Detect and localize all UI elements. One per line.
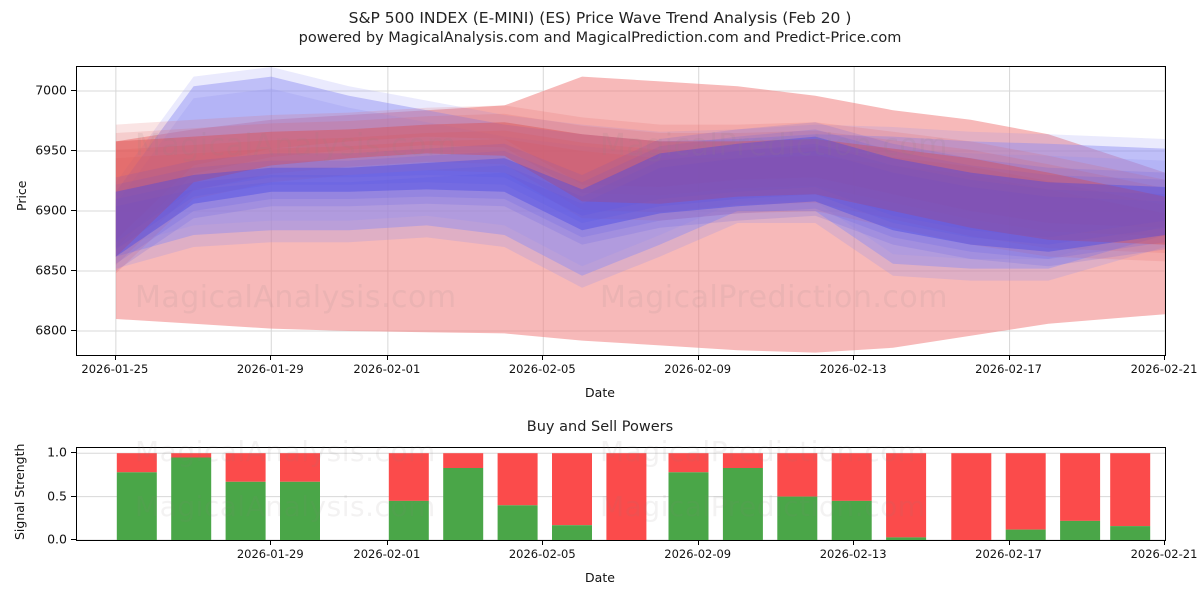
main-x-tick-mark xyxy=(387,356,388,360)
main-x-tick-mark xyxy=(270,356,271,360)
main-x-tick-mark xyxy=(542,356,543,360)
main-x-tick-label: 2026-02-13 xyxy=(820,362,887,376)
buy-power-bar xyxy=(1110,526,1150,540)
buy-power-bar xyxy=(117,472,157,540)
price-y-tick-mark xyxy=(71,150,76,151)
lower-x-tick-label: 2026-02-05 xyxy=(509,547,576,561)
main-x-tick-label: 2026-01-29 xyxy=(237,362,304,376)
main-x-tick-label: 2026-02-09 xyxy=(664,362,731,376)
price-y-tick-label: 6900 xyxy=(35,203,67,218)
lower-x-tick-label: 2026-02-21 xyxy=(1131,547,1198,561)
price-y-tick-label: 6800 xyxy=(35,323,67,338)
price-y-tick-mark xyxy=(71,330,76,331)
lower-x-tick-mark xyxy=(1164,541,1165,545)
buy-power-bar xyxy=(1006,530,1046,540)
lower-x-tick-mark xyxy=(270,541,271,545)
price-y-tick-mark xyxy=(71,270,76,271)
signal-y-tick-mark xyxy=(71,539,76,540)
sell-power-bar xyxy=(280,453,320,482)
lower-x-tick-label: 2026-02-17 xyxy=(975,547,1042,561)
lower-x-tick-mark xyxy=(387,541,388,545)
sell-power-bar xyxy=(1060,453,1100,521)
sell-power-bar xyxy=(723,453,763,468)
sell-power-bar xyxy=(171,453,211,457)
signal-y-tick-mark xyxy=(71,452,76,453)
signal-strength-axis-label: Signal Strength xyxy=(12,444,27,540)
main-x-tick-label: 2026-02-01 xyxy=(353,362,420,376)
buy-sell-bars-svg xyxy=(77,448,1165,540)
buy-power-bar xyxy=(669,472,709,540)
lower-x-axis-label: Date xyxy=(585,570,615,585)
price-wave-chart xyxy=(76,66,1166,356)
lower-x-tick-label: 2026-01-29 xyxy=(237,547,304,561)
buy-power-bar xyxy=(443,468,483,540)
buy-power-bar xyxy=(723,468,763,540)
buy-power-bar xyxy=(171,458,211,541)
sell-power-bar xyxy=(777,453,817,496)
main-x-tick-label: 2026-02-05 xyxy=(509,362,576,376)
main-x-tick-mark xyxy=(853,356,854,360)
lower-x-tick-mark xyxy=(542,541,543,545)
buy-power-bar xyxy=(226,482,266,540)
main-x-tick-mark xyxy=(115,356,116,360)
sell-power-bar xyxy=(443,453,483,468)
price-y-tick-label: 6950 xyxy=(35,143,67,158)
page-subtitle: powered by MagicalAnalysis.com and Magic… xyxy=(0,28,1200,48)
main-x-tick-mark xyxy=(1009,356,1010,360)
sell-power-bar xyxy=(606,453,646,540)
sell-power-bar xyxy=(669,453,709,472)
main-x-tick-label: 2026-02-21 xyxy=(1131,362,1198,376)
signal-y-tick-label: 0.0 xyxy=(47,532,67,547)
price-y-tick-label: 6850 xyxy=(35,263,67,278)
buy-power-bar xyxy=(552,525,592,540)
sell-power-bar xyxy=(1006,453,1046,529)
page-title: S&P 500 INDEX (E-MINI) (ES) Price Wave T… xyxy=(0,8,1200,28)
main-x-tick-mark xyxy=(698,356,699,360)
sell-power-bar xyxy=(886,453,926,537)
buy-power-bar xyxy=(1060,521,1100,540)
lower-x-tick-label: 2026-02-09 xyxy=(664,547,731,561)
main-x-tick-label: 2026-01-25 xyxy=(81,362,148,376)
buy-power-bar xyxy=(832,501,872,540)
sell-power-bar xyxy=(951,453,991,540)
buy-power-bar xyxy=(498,505,538,540)
signal-y-tick-label: 1.0 xyxy=(47,445,67,460)
sell-power-bar xyxy=(389,453,429,501)
sell-power-bar xyxy=(226,453,266,482)
sell-power-bar xyxy=(552,453,592,525)
sell-power-bar xyxy=(1110,453,1150,526)
subplot-title: Buy and Sell Powers xyxy=(527,419,673,435)
lower-x-tick-mark xyxy=(853,541,854,545)
chart-title-block: S&P 500 INDEX (E-MINI) (ES) Price Wave T… xyxy=(0,8,1200,48)
signal-y-tick-mark xyxy=(71,496,76,497)
buy-power-bar xyxy=(389,501,429,540)
price-y-tick-label: 7000 xyxy=(35,83,67,98)
main-x-axis-label: Date xyxy=(585,385,615,400)
signal-y-tick-label: 0.5 xyxy=(47,488,67,503)
buy-power-bar xyxy=(280,482,320,540)
lower-x-tick-label: 2026-02-01 xyxy=(353,547,420,561)
main-x-tick-mark xyxy=(1164,356,1165,360)
price-y-tick-mark xyxy=(71,90,76,91)
sell-power-bar xyxy=(832,453,872,501)
price-bands-svg xyxy=(77,67,1165,355)
buy-power-bar xyxy=(886,537,926,540)
buy-sell-powers-chart xyxy=(76,447,1166,541)
lower-x-tick-mark xyxy=(698,541,699,545)
lower-x-tick-label: 2026-02-13 xyxy=(820,547,887,561)
main-x-tick-label: 2026-02-17 xyxy=(975,362,1042,376)
price-axis-label: Price xyxy=(14,181,29,212)
sell-power-bar xyxy=(498,453,538,505)
buy-power-bar xyxy=(777,497,817,540)
sell-power-bar xyxy=(117,453,157,472)
price-y-tick-mark xyxy=(71,210,76,211)
lower-x-tick-mark xyxy=(1009,541,1010,545)
